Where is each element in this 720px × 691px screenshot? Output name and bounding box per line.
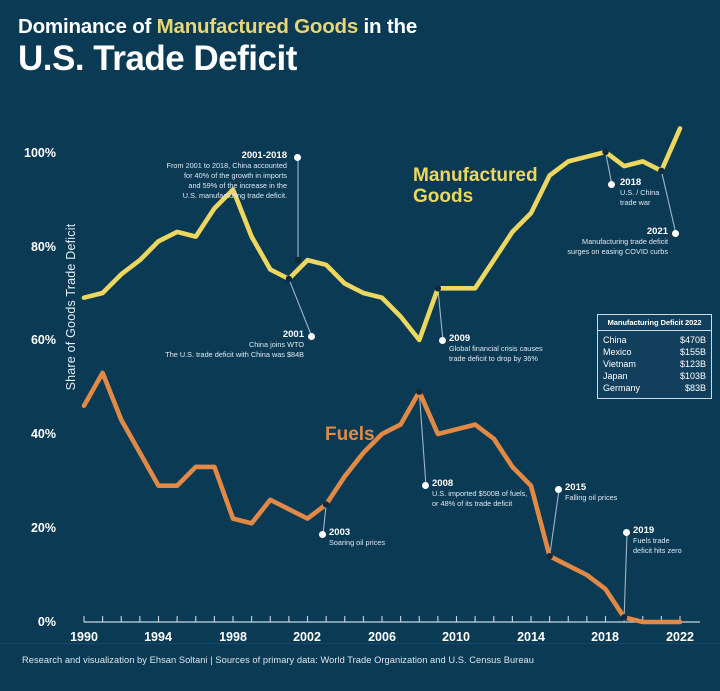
table-cell-value: $470B bbox=[680, 334, 706, 346]
annotation-2003: 2003 Soaring oil prices bbox=[329, 527, 449, 548]
y-tick-20: 20% bbox=[10, 521, 56, 535]
table-cell-value: $123B bbox=[680, 358, 706, 370]
annotation-2001-line2: The U.S. trade deficit with China was $8… bbox=[140, 350, 304, 360]
table-row: Vietnam$123B bbox=[603, 358, 706, 370]
annotation-2015-dot bbox=[555, 486, 562, 493]
annotation-2019-dot bbox=[623, 529, 630, 536]
annotation-2019: 2019 Fuels trade deficit hits zero bbox=[633, 525, 720, 556]
table-cell-country: Japan bbox=[603, 370, 628, 382]
footer-divider bbox=[0, 643, 720, 644]
annotation-2008: 2008 U.S. imported $500B of fuels, or 48… bbox=[432, 478, 582, 509]
infographic-root: Dominance of Manufactured Goods in the U… bbox=[0, 0, 720, 691]
x-tick-2002: 2002 bbox=[282, 630, 332, 644]
table-cell-country: China bbox=[603, 334, 627, 346]
y-tick-0: 0% bbox=[10, 615, 56, 629]
annotation-2009: 2009 Global financial crisis causes trad… bbox=[449, 333, 599, 364]
annotation-2019-line1: Fuels trade bbox=[633, 536, 720, 546]
annotation-2009-dot bbox=[439, 337, 446, 344]
table-body: China$470BMexico$155BVietnam$123BJapan$1… bbox=[598, 331, 711, 398]
chart-area: Share of Goods Trade Deficit 100% 80% 60… bbox=[0, 0, 720, 691]
x-tick-2006: 2006 bbox=[357, 630, 407, 644]
table-header: Manufacturing Deficit 2022 bbox=[598, 315, 711, 331]
table-cell-country: Germany bbox=[603, 382, 640, 394]
annotation-2015-line1: Falling oil prices bbox=[565, 493, 675, 503]
x-tick-2010: 2010 bbox=[431, 630, 481, 644]
series-label-manufactured-goods: Manufactured Goods bbox=[413, 166, 538, 207]
y-tick-40: 40% bbox=[10, 427, 56, 441]
table-cell-value: $83B bbox=[685, 382, 706, 394]
x-axis-ticks bbox=[84, 616, 680, 622]
annotation-2001-2018-line4: U.S. manufacturing trade deficit. bbox=[155, 191, 287, 201]
annotation-2019-line2: deficit hits zero bbox=[633, 546, 720, 556]
annotation-2021-year: 2021 bbox=[556, 226, 668, 237]
annotation-2021-dot bbox=[672, 230, 679, 237]
annotation-2019-year: 2019 bbox=[633, 525, 720, 536]
annotation-2008-line2: or 48% of its trade deficit bbox=[432, 499, 582, 509]
table-cell-country: Vietnam bbox=[603, 358, 636, 370]
annotation-2001-2018-line3: and 59% of the increase in the bbox=[155, 181, 287, 191]
table-cell-country: Mexico bbox=[603, 346, 632, 358]
series-label-mg-line2: Goods bbox=[413, 187, 538, 208]
annotation-2009-line1: Global financial crisis causes bbox=[449, 344, 599, 354]
series-label-fuels: Fuels bbox=[325, 425, 375, 446]
annotation-2009-line2: trade deficit to drop by 36% bbox=[449, 354, 599, 364]
x-tick-2022: 2022 bbox=[655, 630, 705, 644]
y-tick-60: 60% bbox=[10, 333, 56, 347]
table-row: Germany$83B bbox=[603, 382, 706, 394]
annotation-2001-line1: China joins WTO bbox=[140, 340, 304, 350]
footer-credit: Research and visualization by Ehsan Solt… bbox=[22, 655, 534, 665]
table-row: China$470B bbox=[603, 334, 706, 346]
table-row: Mexico$155B bbox=[603, 346, 706, 358]
annotation-2001: 2001 China joins WTO The U.S. trade defi… bbox=[140, 329, 304, 360]
y-tick-80: 80% bbox=[10, 240, 56, 254]
annotation-2001-2018-year: 2001-2018 bbox=[155, 150, 287, 161]
x-tick-1990: 1990 bbox=[59, 630, 109, 644]
annotation-2018: 2018 U.S. / China trade war bbox=[620, 177, 710, 208]
annotation-2015: 2015 Falling oil prices bbox=[565, 482, 675, 503]
x-tick-2018: 2018 bbox=[580, 630, 630, 644]
y-axis-title: Share of Goods Trade Deficit bbox=[64, 192, 78, 422]
annotation-2003-year: 2003 bbox=[329, 527, 449, 538]
x-tick-1994: 1994 bbox=[133, 630, 183, 644]
manufacturing-deficit-table: Manufacturing Deficit 2022 China$470BMex… bbox=[597, 314, 712, 399]
annotation-2003-line1: Soaring oil prices bbox=[329, 538, 449, 548]
table-row: Japan$103B bbox=[603, 370, 706, 382]
y-tick-100: 100% bbox=[10, 146, 56, 160]
annotation-2001-2018-line2: for 40% of the growth in imports bbox=[155, 171, 287, 181]
table-cell-value: $103B bbox=[680, 370, 706, 382]
annotation-2001-2018-line1: From 2001 to 2018, China accounted bbox=[155, 161, 287, 171]
x-tick-1998: 1998 bbox=[208, 630, 258, 644]
annotation-2018-line2: trade war bbox=[620, 198, 710, 208]
annotation-2021-line2: surges on easing COVID curbs bbox=[556, 247, 668, 257]
annotation-2009-year: 2009 bbox=[449, 333, 599, 344]
series-label-mg-line1: Manufactured bbox=[413, 166, 538, 187]
x-tick-2014: 2014 bbox=[506, 630, 556, 644]
table-cell-value: $155B bbox=[680, 346, 706, 358]
annotation-2018-year: 2018 bbox=[620, 177, 710, 188]
annotation-2015-year: 2015 bbox=[565, 482, 675, 493]
annotation-2021-line1: Manufacturing trade deficit bbox=[556, 237, 668, 247]
annotation-2001-2018: 2001-2018 From 2001 to 2018, China accou… bbox=[155, 150, 287, 200]
annotation-2008-dot bbox=[422, 482, 429, 489]
annotation-2021: 2021 Manufacturing trade deficit surges … bbox=[556, 226, 668, 257]
annotation-2001-2018-dot bbox=[294, 154, 301, 161]
annotation-2001-year: 2001 bbox=[140, 329, 304, 340]
annotation-2001-dot bbox=[308, 333, 315, 340]
annotation-2018-line1: U.S. / China bbox=[620, 188, 710, 198]
annotation-2003-dot bbox=[319, 531, 326, 538]
annotation-2018-dot bbox=[608, 181, 615, 188]
